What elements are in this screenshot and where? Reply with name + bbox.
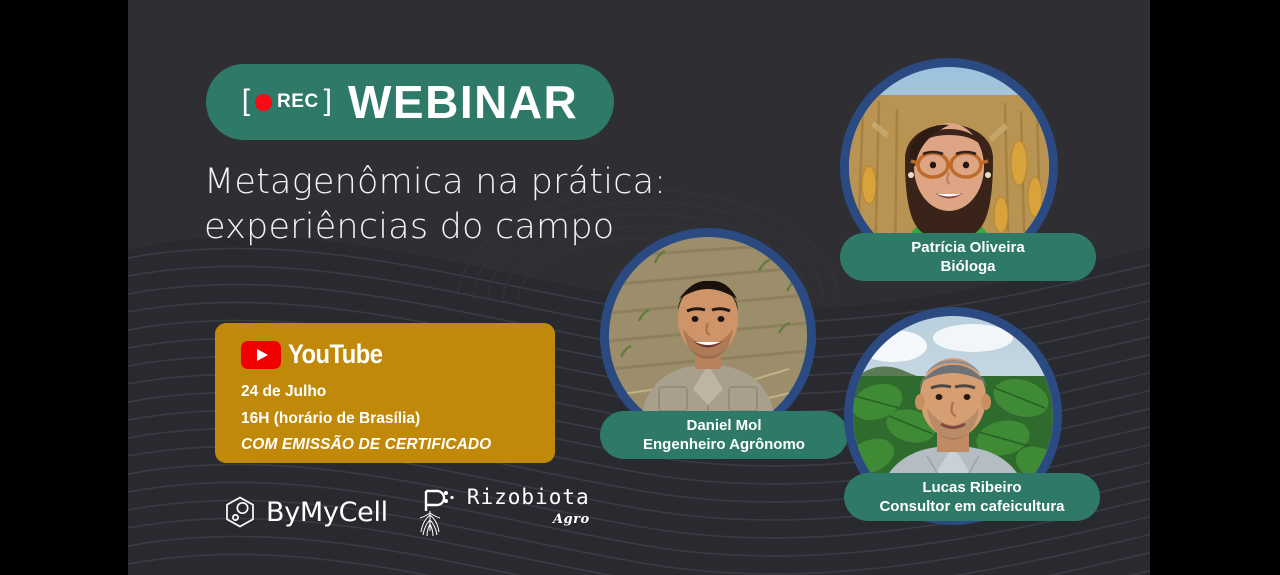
- root-r-icon: [416, 487, 460, 537]
- speaker-name-pill-patricia: Patrícia Oliveira Bióloga: [840, 233, 1096, 281]
- bracket-open-icon: [: [242, 86, 250, 116]
- sponsor-logos: ByMyCell: [223, 487, 590, 537]
- rec-dot-icon: [255, 94, 272, 111]
- youtube-logo[interactable]: YouTube: [241, 339, 555, 370]
- avatar-daniel: [609, 237, 807, 435]
- bymycell-label: ByMyCell: [266, 497, 388, 528]
- bracket-close-icon: ]: [324, 86, 332, 116]
- speaker-role: Bióloga: [941, 257, 996, 277]
- youtube-play-icon: [241, 341, 281, 369]
- rec-indicator: [ REC ]: [242, 88, 332, 116]
- rec-label: REC: [277, 91, 319, 113]
- title-line-1: Metagenômica na prática:: [204, 160, 764, 205]
- youtube-label: YouTube: [288, 339, 382, 370]
- speaker-role: Engenheiro Agrônomo: [643, 435, 805, 455]
- speaker-name-pill-lucas: Lucas Ribeiro Consultor em cafeicultura: [844, 473, 1100, 521]
- speaker-name: Lucas Ribeiro: [922, 478, 1021, 498]
- letterbox-left: [0, 0, 128, 575]
- photo-man-field: [609, 237, 807, 435]
- event-time: 16H (horário de Brasília): [241, 406, 555, 433]
- rizobiota-label: Rizobiota: [467, 487, 590, 508]
- event-time-value: 16H: [241, 410, 269, 427]
- rizobiota-sublabel: Agro: [553, 513, 590, 526]
- event-timezone-note: (horário de Brasília): [274, 410, 420, 427]
- certificate-note: COM EMISSÃO DE CERTIFICADO: [241, 432, 555, 459]
- speaker-name-pill-daniel: Daniel Mol Engenheiro Agrônomo: [600, 411, 848, 459]
- speaker-name: Patrícia Oliveira: [911, 238, 1024, 258]
- logo-bymycell[interactable]: ByMyCell: [223, 495, 388, 529]
- letterbox-right: [1150, 0, 1280, 575]
- webinar-poster: [ REC ] WEBINAR Metagenômica na prática:…: [0, 0, 1280, 575]
- logo-rizobiota[interactable]: Rizobiota Agro: [416, 487, 590, 537]
- webinar-title: WEBINAR: [348, 79, 578, 125]
- webinar-badge: [ REC ] WEBINAR: [206, 64, 614, 140]
- speaker-name: Daniel Mol: [686, 416, 761, 436]
- event-info-card: YouTube 24 de Julho 16H (horário de Bras…: [215, 323, 555, 463]
- speaker-role: Consultor em cafeicultura: [879, 497, 1064, 517]
- poster-canvas: [ REC ] WEBINAR Metagenômica na prática:…: [128, 0, 1150, 575]
- event-date: 24 de Julho: [241, 379, 555, 406]
- hexagon-cell-icon: [223, 495, 257, 529]
